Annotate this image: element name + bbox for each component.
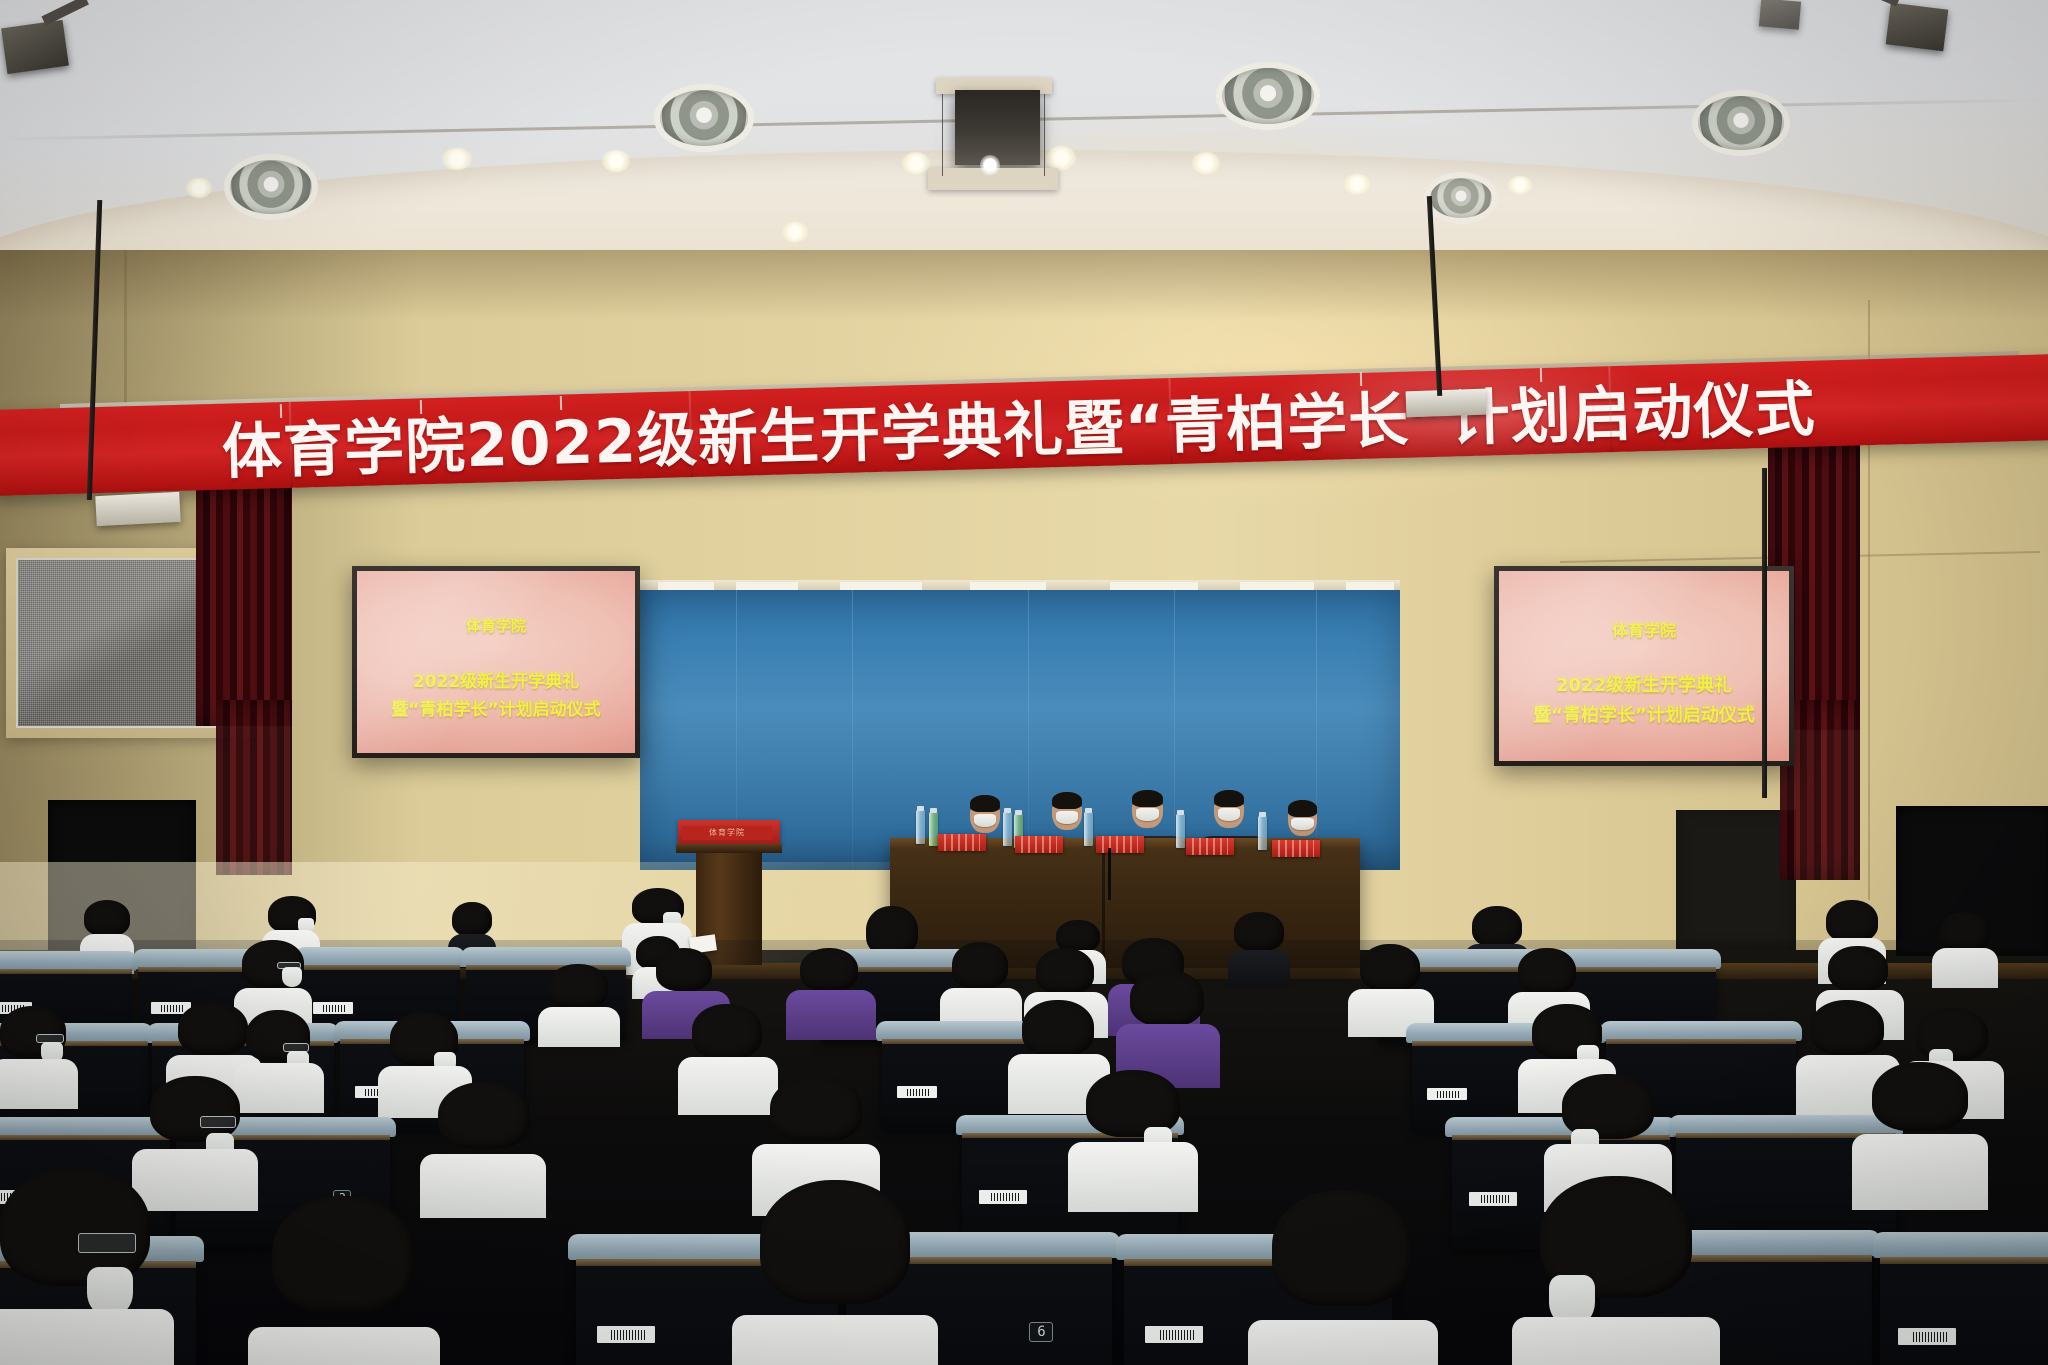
screen-left-line3: 暨“青柏学长”计划启动仪式 (357, 695, 635, 720)
backdrop-crease-2 (852, 590, 853, 870)
hair (1518, 948, 1576, 994)
projector-lens-glow (980, 155, 1000, 175)
shirt (1068, 1142, 1198, 1212)
placard-text-1 (944, 834, 980, 851)
hair (84, 900, 130, 936)
auditorium-photo: 体育学院 2022级新生开学典礼 暨“青柏学长”计划启动仪式 体育学院 2022… (0, 0, 2048, 1365)
shirt (420, 1154, 546, 1218)
audience-person-r4-3 (1086, 1070, 1180, 1194)
ceiling-downlight-2 (442, 148, 472, 170)
hair (178, 1002, 248, 1055)
banner-hook-3 (560, 396, 562, 410)
panelist-5-head (1288, 800, 1317, 836)
panelist-2-head (1052, 792, 1082, 830)
bottle-cap-3 (1004, 808, 1011, 813)
audience-person-r3-4 (692, 1004, 762, 1098)
panelist-3-mask (1136, 808, 1160, 821)
glasses (277, 962, 301, 969)
bottle-cap-7 (1259, 812, 1266, 817)
ceiling-downlight-3 (602, 150, 630, 172)
bottle-cap-5 (1085, 808, 1092, 813)
placard-text-2 (1021, 836, 1057, 853)
panelist-1-hair (970, 795, 1000, 812)
hair (770, 1076, 862, 1142)
shirt (786, 990, 876, 1040)
audience-person-r5-4 (1272, 1190, 1412, 1365)
seat-barcode-label (597, 1326, 655, 1343)
podium-sign-text: 体育学院 (682, 826, 772, 840)
bottle-cap-1 (917, 806, 924, 811)
panelist-4-head (1214, 790, 1244, 828)
table-microphone (1108, 848, 1111, 900)
audience-person-r2-1 (242, 940, 304, 1020)
panelist-4-mask (1218, 808, 1241, 821)
hair (656, 948, 712, 991)
panelist-3-head (1132, 790, 1163, 828)
wall-projector-right (1406, 389, 1487, 418)
ceiling-downlight-1 (186, 178, 212, 198)
bottle-cap-6 (1177, 810, 1184, 815)
name-placard-4 (1186, 838, 1234, 855)
panelist-2-face (1052, 792, 1082, 830)
screen-surface-left: 体育学院 2022级新生开学典礼 暨“青柏学长”计划启动仪式 (357, 571, 635, 753)
ceiling-air-vent-1 (230, 160, 312, 214)
audience-person-r1-11 (1940, 912, 1990, 982)
ceiling-downlight-4 (782, 222, 808, 242)
audience-person-r2-2 (548, 964, 608, 1034)
screen-right-line3: 暨“青柏学长”计划启动仪式 (1499, 701, 1789, 727)
shirt (1512, 1317, 1720, 1365)
panelist-5-mask (1291, 818, 1313, 830)
hair (1872, 1062, 1968, 1131)
banner-hook-1 (280, 404, 282, 418)
banner-hook-5 (1540, 368, 1542, 382)
panelist-3-face (1132, 790, 1163, 828)
seat-cap (1600, 1021, 1801, 1041)
hair (952, 942, 1008, 989)
hair (1360, 944, 1420, 991)
seat-barcode-label (979, 1190, 1027, 1204)
audience-person-r3-1 (0, 1006, 66, 1092)
hair (438, 1082, 530, 1149)
seat-barcode-label (1898, 1328, 1956, 1345)
shirt (1932, 948, 1998, 988)
glasses (200, 1116, 236, 1128)
glasses (78, 1233, 136, 1253)
hair (272, 1196, 414, 1313)
shirt (538, 1007, 620, 1047)
seat-barcode-label (1145, 1326, 1203, 1343)
shirt (1228, 950, 1290, 986)
hair (452, 902, 492, 936)
hair (1472, 906, 1522, 947)
panelist-3-hair (1132, 790, 1163, 807)
audience-person-r3-7 (1130, 970, 1204, 1070)
stage-light-fixture (1, 20, 69, 74)
seat-trim (1880, 1257, 2048, 1264)
audience-person-r4-1 (150, 1076, 240, 1194)
seat-number: 6 (1029, 1322, 1053, 1342)
audience-person-r5-5 (272, 1196, 414, 1365)
shirt (0, 1059, 78, 1109)
hair (1036, 948, 1094, 994)
water-bottle-2 (929, 812, 938, 846)
screen-surface-right: 体育学院 2022级新生开学典礼 暨“青柏学长”计划启动仪式 (1499, 571, 1789, 761)
bottle-cap-2 (930, 808, 937, 813)
seat-barcode-label (313, 1002, 353, 1014)
audience-person-r3-6 (1022, 1000, 1094, 1096)
podium-top: 体育学院 (678, 820, 780, 846)
projection-screen-right: 体育学院 2022级新生开学典礼 暨“青柏学长”计划启动仪式 (1494, 566, 1794, 766)
panelist-4-face (1214, 790, 1244, 828)
audience-person-r4-5 (1872, 1062, 1968, 1190)
seat-trim (1606, 1039, 1796, 1044)
hair (1272, 1190, 1412, 1306)
audience-person-r5-2 (760, 1180, 910, 1365)
panelist-5-face (1288, 800, 1317, 836)
audience-person-r5-1 (0, 1168, 150, 1358)
audience-person-r4-6 (438, 1082, 530, 1202)
ceiling-air-vent-5 (1430, 178, 1492, 218)
water-bottle-1 (916, 810, 925, 844)
screen-right-line2: 2022级新生开学典礼 (1499, 671, 1789, 697)
ceiling-projector (955, 90, 1040, 165)
hair (1234, 912, 1284, 951)
stage-light-fixture-right (1886, 3, 1949, 52)
mic-stand-pole-far-right (1762, 468, 1767, 798)
ceiling-air-vent-4 (1698, 96, 1784, 150)
shirt (678, 1057, 778, 1115)
ceiling-air-vent-3 (1222, 68, 1314, 124)
projector-support-wire-1 (942, 94, 943, 176)
shirt (1852, 1134, 1988, 1210)
water-bottle-5 (1084, 812, 1093, 846)
ceiling-downlight-9 (1508, 176, 1532, 194)
audience-person-r2-4 (800, 948, 858, 1018)
seat-cap (0, 951, 137, 971)
seat-r5-6[interactable] (1880, 1244, 2048, 1365)
panelist-1-mask (974, 814, 997, 827)
podium-sign: 体育学院 (682, 826, 772, 840)
hair (1810, 1000, 1884, 1055)
stage-curtain-left-lower (216, 700, 292, 875)
hair (1022, 1000, 1094, 1056)
hair (1940, 912, 1990, 951)
ceiling-downlight-7 (1192, 152, 1220, 174)
audience-person-r5-3 (1540, 1176, 1692, 1365)
seat-trim (0, 1135, 170, 1140)
projection-screen-left: 体育学院 2022级新生开学典礼 暨“青柏学长”计划启动仪式 (352, 566, 640, 758)
screen-left-line2: 2022级新生开学典礼 (357, 667, 635, 692)
banner-hook-2 (420, 400, 422, 414)
hair (1130, 970, 1204, 1026)
bottle-cap-4 (1015, 810, 1022, 815)
placard-text-4 (1192, 838, 1228, 855)
panelist-1-head (970, 795, 1000, 833)
seat-cap (1873, 1232, 2048, 1258)
seat-barcode-label (1427, 1088, 1467, 1100)
shirt (248, 1327, 440, 1365)
seat-trim (0, 969, 132, 974)
screen-left-line1: 体育学院 (357, 615, 635, 636)
seat-barcode-label (1469, 1192, 1517, 1206)
hair (548, 964, 608, 1009)
ceiling-downlight-5 (902, 152, 930, 174)
banner-hook-4 (1360, 372, 1362, 386)
seat-barcode-label (897, 1086, 937, 1098)
audience-person-r1-8 (1234, 912, 1284, 982)
hair (692, 1004, 762, 1059)
hair (1828, 946, 1888, 991)
panelist-5-hair (1288, 800, 1317, 817)
hair (1826, 900, 1878, 942)
panelist-2-mask (1056, 811, 1079, 824)
seat-trim (300, 965, 460, 970)
panelist-1-face (970, 795, 1000, 833)
hair (760, 1180, 910, 1304)
panelist-2-hair (1052, 792, 1082, 809)
name-placard-2 (1015, 836, 1063, 853)
audience-person-r2-8 (1360, 944, 1420, 1022)
placard-text-5 (1278, 840, 1314, 857)
shirt (1248, 1320, 1438, 1365)
podium-shelf (676, 844, 782, 853)
shirt (0, 1309, 174, 1365)
audience-person-r2-5 (952, 942, 1008, 1018)
water-bottle-3 (1003, 812, 1012, 846)
name-placard-3 (1096, 836, 1144, 853)
stage-light-fixture-far-right (1759, 0, 1801, 30)
water-bottle-6 (1176, 814, 1185, 848)
wall-projector-left (95, 492, 180, 526)
name-placard-1 (938, 834, 986, 851)
projector-support-wire-2 (1044, 94, 1045, 176)
panelist-4-hair (1214, 790, 1244, 807)
water-bottle-7 (1258, 816, 1267, 850)
shirt (234, 1063, 324, 1113)
mask (282, 967, 302, 987)
audience-person-r3-3 (246, 1010, 310, 1096)
ceiling-air-vent-2 (660, 90, 748, 146)
seat-cap (295, 947, 465, 967)
ceiling-downlight-6 (1046, 146, 1076, 170)
seat-cap (1669, 1115, 1902, 1135)
shirt (132, 1149, 258, 1211)
screen-right-line1: 体育学院 (1499, 617, 1789, 641)
name-placard-5 (1272, 840, 1320, 857)
ceiling-downlight-8 (1344, 174, 1370, 194)
hair (800, 948, 858, 991)
shirt (732, 1315, 938, 1365)
